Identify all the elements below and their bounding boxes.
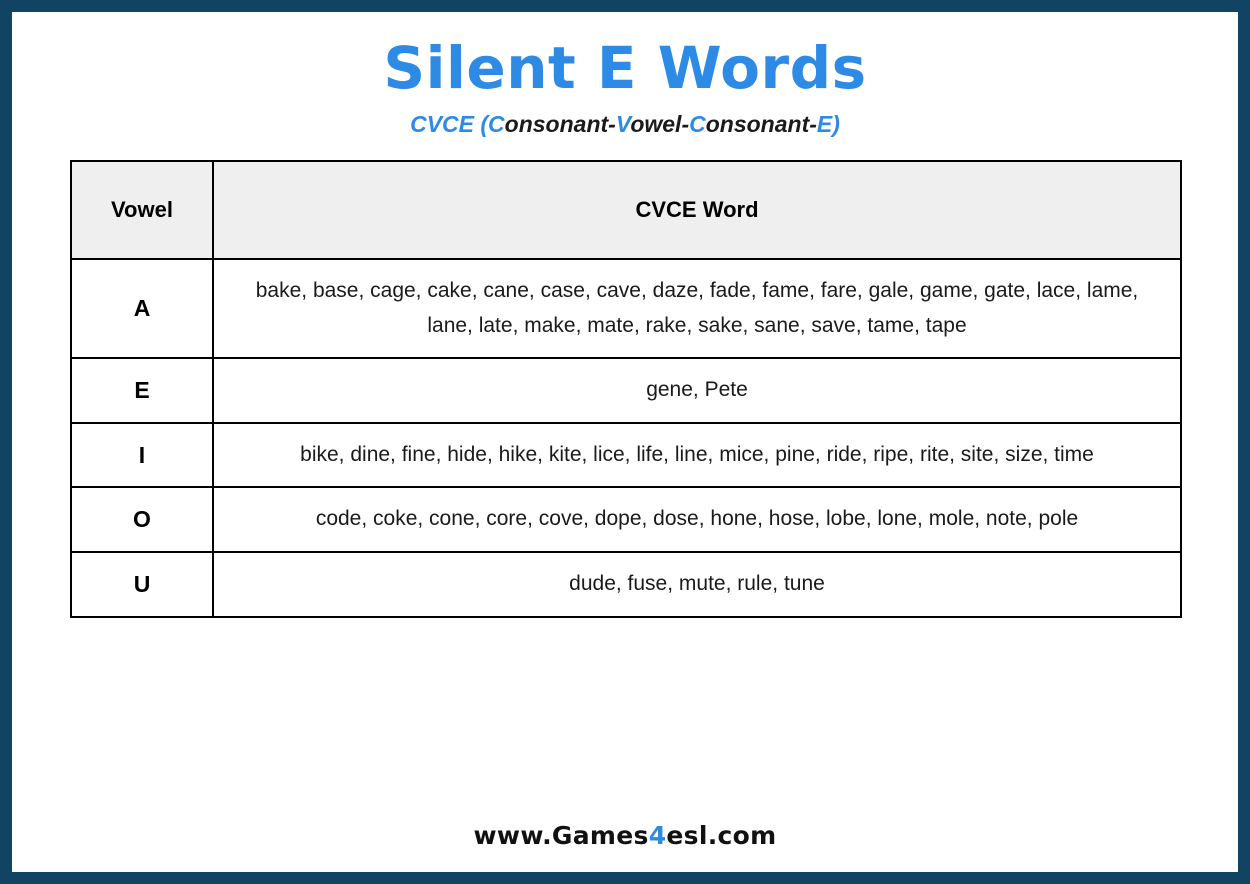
subtitle-part-v: V xyxy=(616,111,631,137)
words-table-wrapper: Vowel CVCE Word A bake, base, cage, cake… xyxy=(70,138,1180,618)
page-title: Silent E Words xyxy=(12,12,1238,99)
site-credit-suffix: esl.com xyxy=(666,821,776,850)
site-credit: www.Games4esl.com xyxy=(12,821,1238,850)
subtitle-part-c2: C xyxy=(689,111,706,137)
subtitle-part-close-paren: ) xyxy=(832,111,840,137)
table-row: A bake, base, cage, cake, cane, case, ca… xyxy=(71,259,1181,358)
subtitle-part-c1: C xyxy=(488,111,505,137)
subtitle-part-cvce: CVCE ( xyxy=(410,111,488,137)
subtitle-part-onsonant1: onsonant- xyxy=(505,111,616,137)
subtitle-part-owel: owel- xyxy=(630,111,689,137)
table-row: U dude, fuse, mute, rule, tune xyxy=(71,552,1181,617)
table-body: A bake, base, cage, cake, cane, case, ca… xyxy=(71,259,1181,617)
word-list-e: gene, Pete xyxy=(213,358,1181,423)
site-credit-prefix: www.Games xyxy=(474,821,649,850)
vowel-letter-e: E xyxy=(71,358,213,423)
table-row: E gene, Pete xyxy=(71,358,1181,423)
table-row: I bike, dine, fine, hide, hike, kite, li… xyxy=(71,423,1181,488)
word-list-o: code, coke, cone, core, cove, dope, dose… xyxy=(213,487,1181,552)
column-header-vowel: Vowel xyxy=(71,161,213,259)
cvce-words-table: Vowel CVCE Word A bake, base, cage, cake… xyxy=(70,160,1182,618)
word-list-u: dude, fuse, mute, rule, tune xyxy=(213,552,1181,617)
site-credit-accent: 4 xyxy=(649,821,667,850)
vowel-letter-a: A xyxy=(71,259,213,358)
page-subtitle: CVCE (Consonant-Vowel-Consonant-E) xyxy=(12,99,1238,138)
word-list-a: bake, base, cage, cake, cane, case, cave… xyxy=(213,259,1181,358)
column-header-cvce-word: CVCE Word xyxy=(213,161,1181,259)
word-list-i: bike, dine, fine, hide, hike, kite, lice… xyxy=(213,423,1181,488)
subtitle-part-e: E xyxy=(817,111,832,137)
worksheet-page: Silent E Words CVCE (Consonant-Vowel-Con… xyxy=(12,12,1238,872)
vowel-letter-o: O xyxy=(71,487,213,552)
table-header-row: Vowel CVCE Word xyxy=(71,161,1181,259)
vowel-letter-u: U xyxy=(71,552,213,617)
subtitle-part-onsonant2: onsonant- xyxy=(706,111,817,137)
table-row: O code, coke, cone, core, cove, dope, do… xyxy=(71,487,1181,552)
vowel-letter-i: I xyxy=(71,423,213,488)
table-header: Vowel CVCE Word xyxy=(71,161,1181,259)
